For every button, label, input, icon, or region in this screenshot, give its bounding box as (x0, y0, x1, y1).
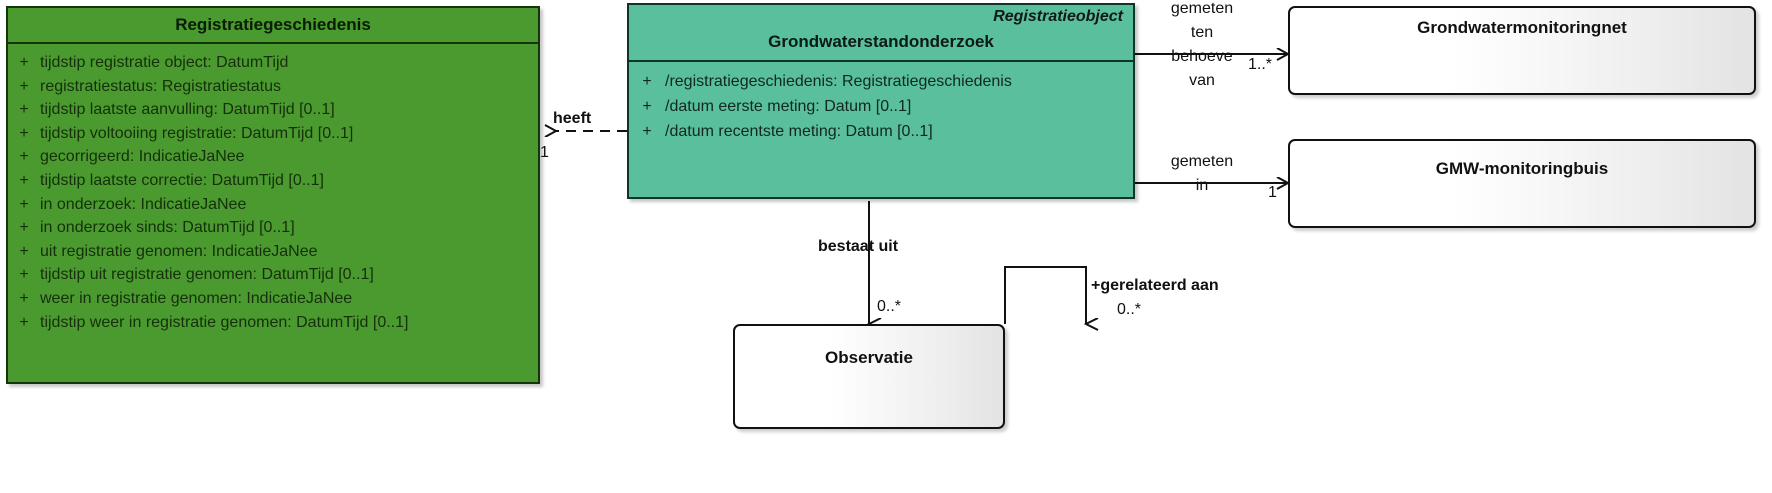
visibility-marker: + (629, 94, 665, 119)
attribute-row: +/datum recentste meting: Datum [0..1] (629, 119, 1133, 144)
visibility-marker: + (8, 263, 40, 287)
attribute-text: /datum eerste meting: Datum [0..1] (665, 98, 911, 115)
class-stereotype-registratieobject: Registratieobject (629, 5, 1133, 26)
visibility-marker: + (8, 311, 40, 335)
visibility-marker: + (8, 287, 40, 311)
relation-label-gemeten-ten-behoeve-van-line3: behoeve (1152, 48, 1252, 66)
relation-label-heeft: heeft (553, 110, 591, 128)
class-grondwaterstandonderzoek[interactable]: Registratieobject Grondwaterstandonderzo… (627, 3, 1135, 199)
attribute-text: in onderzoek: IndicatieJaNee (40, 196, 246, 213)
relation-label-gemeten-ten-behoeve-van-line2: ten (1152, 24, 1252, 42)
attribute-row: +gecorrigeerd: IndicatieJaNee (8, 145, 538, 169)
visibility-marker: + (8, 216, 40, 240)
class-observatie[interactable]: Observatie (733, 324, 1005, 429)
attribute-row: +tijdstip voltooiing registratie: DatumT… (8, 122, 538, 146)
relation-multiplicity-grondwatermonitoringnet: 1..* (1248, 56, 1272, 74)
attribute-compartment-grondwaterstandonderzoek: +/registratiegeschiedenis: Registratiege… (629, 62, 1133, 144)
class-title-observatie: Observatie (735, 326, 1003, 368)
class-registratiegeschiedenis[interactable]: Registratiegeschiedenis +tijdstip regist… (6, 6, 540, 384)
relation-label-gemeten-in-line1: gemeten (1152, 153, 1252, 171)
attribute-text: /datum recentste meting: Datum [0..1] (665, 123, 933, 140)
class-title-grondwatermonitoringnet: Grondwatermonitoringnet (1290, 8, 1754, 38)
visibility-marker: + (8, 145, 40, 169)
visibility-marker: + (8, 51, 40, 75)
attribute-row: +/registratiegeschiedenis: Registratiege… (629, 69, 1133, 94)
attribute-row: +in onderzoek: IndicatieJaNee (8, 193, 538, 217)
visibility-marker: + (8, 240, 40, 264)
attribute-row: +tijdstip laatste aanvulling: DatumTijd … (8, 98, 538, 122)
relation-label-gemeten-in-line2: in (1152, 177, 1252, 195)
attribute-row: +uit registratie genomen: IndicatieJaNee (8, 240, 538, 264)
attribute-row: +tijdstip registratie object: DatumTijd (8, 51, 538, 75)
class-title-grondwaterstandonderzoek: Grondwaterstandonderzoek (629, 26, 1133, 62)
attribute-text: uit registratie genomen: IndicatieJaNee (40, 243, 318, 260)
attribute-text: weer in registratie genomen: IndicatieJa… (40, 290, 352, 307)
attribute-text: in onderzoek sinds: DatumTijd [0..1] (40, 219, 295, 236)
attribute-text: tijdstip laatste correctie: DatumTijd [0… (40, 172, 324, 189)
attribute-text: tijdstip laatste aanvulling: DatumTijd [… (40, 101, 335, 118)
attribute-row: +weer in registratie genomen: IndicatieJ… (8, 287, 538, 311)
class-grondwatermonitoringnet[interactable]: Grondwatermonitoringnet (1288, 6, 1756, 95)
visibility-marker: + (8, 193, 40, 217)
relation-label-bestaat-uit: bestaat uit (818, 238, 898, 256)
relation-multiplicity-observatie: 0..* (877, 298, 901, 316)
visibility-marker: + (8, 98, 40, 122)
attribute-text: tijdstip weer in registratie genomen: Da… (40, 314, 408, 331)
relation-label-gemeten-ten-behoeve-van-line4: van (1152, 72, 1252, 90)
relation-multiplicity-gerelateerd-aan: 0..* (1117, 301, 1141, 319)
relation-multiplicity-gmw-monitoringbuis: 1 (1268, 184, 1277, 202)
visibility-marker: + (8, 75, 40, 99)
attribute-text: tijdstip uit registratie genomen: DatumT… (40, 266, 374, 283)
visibility-marker: + (629, 69, 665, 94)
attribute-text: /registratiegeschiedenis: Registratieges… (665, 73, 1012, 90)
class-gmw-monitoringbuis[interactable]: GMW-monitoringbuis (1288, 139, 1756, 228)
attribute-row: +registratiestatus: Registratiestatus (8, 75, 538, 99)
attribute-text: tijdstip voltooiing registratie: DatumTi… (40, 125, 353, 142)
uml-diagram-canvas: Registratiegeschiedenis +tijdstip regist… (0, 0, 1772, 493)
class-title-gmw-monitoringbuis: GMW-monitoringbuis (1290, 141, 1754, 179)
visibility-marker: + (8, 122, 40, 146)
attribute-text: gecorrigeerd: IndicatieJaNee (40, 148, 245, 165)
relation-label-gerelateerd-aan: +gerelateerd aan (1091, 277, 1219, 295)
visibility-marker: + (8, 169, 40, 193)
attribute-row: +in onderzoek sinds: DatumTijd [0..1] (8, 216, 538, 240)
attribute-row: +tijdstip uit registratie genomen: Datum… (8, 263, 538, 287)
attribute-row: +tijdstip laatste correctie: DatumTijd [… (8, 169, 538, 193)
attribute-row: +tijdstip weer in registratie genomen: D… (8, 311, 538, 335)
relation-multiplicity-heeft-source: 1 (540, 144, 549, 162)
attribute-text: tijdstip registratie object: DatumTijd (40, 54, 288, 71)
attribute-text: registratiestatus: Registratiestatus (40, 78, 281, 95)
class-title-registratiegeschiedenis: Registratiegeschiedenis (8, 8, 538, 44)
attribute-compartment-registratiegeschiedenis: +tijdstip registratie object: DatumTijd … (8, 44, 538, 334)
attribute-row: +/datum eerste meting: Datum [0..1] (629, 94, 1133, 119)
relation-label-gemeten-ten-behoeve-van-line1: gemeten (1152, 0, 1252, 18)
visibility-marker: + (629, 119, 665, 144)
